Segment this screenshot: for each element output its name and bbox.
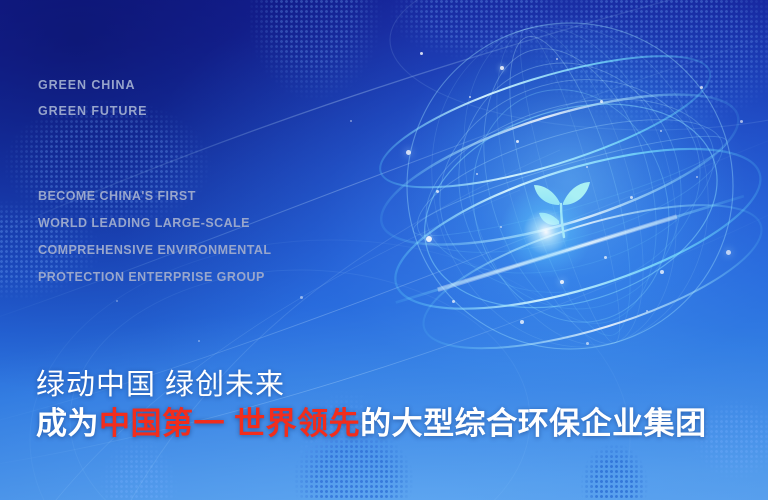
- globe-halo: [372, 18, 768, 363]
- core-light-burst: [498, 184, 594, 280]
- tagline-line-1: GREEN CHINA: [38, 72, 147, 98]
- tagline-block: GREEN CHINA GREEN FUTURE: [38, 72, 147, 124]
- headline-block: 绿动中国 绿创未来 成为中国第一 世界领先的大型综合环保企业集团: [36, 366, 707, 444]
- mission-line-3: COMPREHENSIVE ENVIRONMENTAL: [38, 237, 271, 264]
- mission-block: BECOME CHINA'S FIRST WORLD LEADING LARGE…: [38, 183, 271, 291]
- headline-line-1: 绿动中国 绿创未来: [36, 366, 707, 404]
- headline-highlight: 中国第一 世界领先: [99, 406, 360, 441]
- banner-hero: GREEN CHINA GREEN FUTURE BECOME CHINA'S …: [0, 0, 768, 500]
- wireframe-globe: [372, 18, 768, 363]
- mission-line-4: PROTECTION ENTERPRISE GROUP: [38, 264, 271, 291]
- headline-line-2: 成为中国第一 世界领先的大型综合环保企业集团: [36, 404, 707, 444]
- mission-line-1: BECOME CHINA'S FIRST: [38, 183, 271, 210]
- headline-prefix: 成为: [36, 406, 99, 441]
- green-sprout-emblem: [524, 163, 598, 245]
- headline-suffix: 的大型综合环保企业集团: [360, 406, 707, 441]
- mission-line-2: WORLD LEADING LARGE-SCALE: [38, 210, 271, 237]
- tagline-line-2: GREEN FUTURE: [38, 98, 147, 124]
